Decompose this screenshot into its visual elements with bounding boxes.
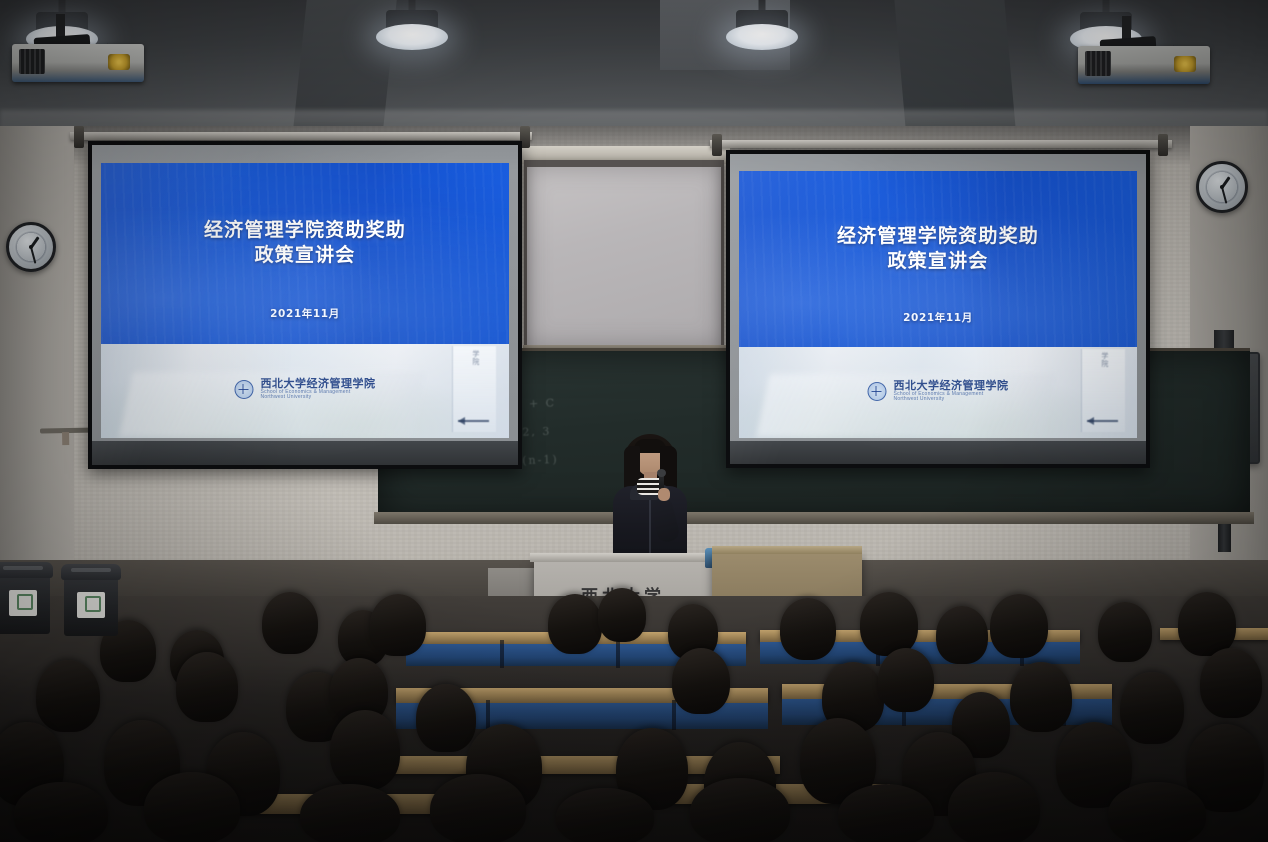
audience-head: [36, 660, 100, 732]
arrow-icon: [458, 420, 490, 422]
audience-head: [1120, 672, 1184, 744]
audience-head: [14, 782, 108, 842]
audience-head: [948, 772, 1040, 842]
projection-screen-right: 学院 西北大学经济管理学院 School of Economics & Mana…: [726, 150, 1150, 468]
screen-rail-right: [710, 140, 1172, 148]
signboard-text: 学院: [1099, 352, 1108, 368]
seat-divider: [500, 640, 504, 668]
screen-bracket: [74, 126, 84, 148]
arrow-icon: [1087, 420, 1118, 422]
audience-head: [598, 588, 646, 642]
audience-head: [548, 594, 602, 654]
audience-head: [1108, 782, 1206, 842]
slide-date: 2021年11月: [739, 310, 1137, 325]
logo-en2: Northwest University: [260, 395, 375, 401]
slide-title-line2: 政策宣讲会: [739, 249, 1137, 274]
audience-area: [0, 596, 1268, 842]
slide-lower-band: 学院 西北大学经济管理学院 School of Economics & Mana…: [739, 347, 1137, 438]
audience-head: [990, 594, 1048, 658]
wall-left-panel: [0, 126, 74, 596]
recycle-icon: [77, 592, 105, 618]
slide-signboard: 学院: [452, 346, 497, 432]
screen-bracket: [1158, 134, 1168, 156]
slide-title-line1: 经济管理学院资助奖助: [204, 219, 406, 241]
slide-title: 经济管理学院资助奖助 政策宣讲会: [739, 224, 1137, 274]
slide-title: 经济管理学院资助奖助 政策宣讲会: [101, 218, 508, 268]
screen-rail-left: [70, 132, 532, 140]
slide-date: 2021年11月: [101, 306, 508, 321]
ceiling-beam: [894, 0, 1015, 128]
audience-head: [690, 778, 790, 842]
audience-head: [1098, 602, 1152, 662]
recycle-icon: [9, 590, 37, 616]
slide-left: 学院 西北大学经济管理学院 School of Economics & Mana…: [101, 163, 508, 438]
audience-head: [1200, 648, 1262, 718]
audience-head: [860, 592, 918, 656]
blackboard-ledge: [374, 512, 1254, 524]
audience-head: [780, 598, 836, 660]
slide-lower-band: 学院 西北大学经济管理学院 School of Economics & Mana…: [101, 344, 508, 438]
projection-screen-left: 学院 西北大学经济管理学院 School of Economics & Mana…: [88, 141, 522, 469]
audience-head: [176, 652, 238, 722]
wall-clock-right: [1196, 161, 1248, 213]
slide-title-line2: 政策宣讲会: [101, 243, 508, 268]
seat-divider: [486, 700, 490, 730]
lecture-hall-scene: lim f(x) = 0 ∫ f(x) dx = F(x) + C x → ∞ …: [0, 0, 1268, 842]
trash-bin: [64, 570, 118, 636]
slide-title-line1: 经济管理学院资助奖助: [837, 225, 1039, 247]
audience-head: [672, 648, 730, 714]
audience-head: [838, 784, 934, 842]
audience-head: [878, 648, 934, 712]
audience-head: [1010, 662, 1072, 732]
audience-head: [262, 592, 318, 654]
audience-head: [144, 772, 240, 842]
signboard-text: 学院: [470, 350, 479, 366]
school-logo: 西北大学经济管理学院 School of Economics & Managem…: [867, 380, 1008, 403]
logo-en2: Northwest University: [893, 397, 1008, 403]
slide-right: 学院 西北大学经济管理学院 School of Economics & Mana…: [739, 171, 1137, 438]
university-seal-icon: [867, 382, 886, 401]
audience-head: [1178, 592, 1236, 656]
audience-head: [556, 788, 654, 842]
speaker-presenter: [606, 432, 694, 564]
school-logo: 西北大学经济管理学院 School of Economics & Managem…: [234, 378, 375, 401]
ceiling-beam: [293, 0, 396, 128]
slide-signboard: 学院: [1081, 349, 1125, 432]
trash-bin: [0, 568, 50, 634]
screen-bracket: [712, 134, 722, 156]
audience-head: [430, 774, 526, 842]
audience-head: [416, 684, 476, 752]
screen-bottom-bar: [92, 441, 518, 465]
audience-head: [300, 784, 400, 842]
seat-divider: [616, 640, 620, 668]
wall-clock-left: [6, 222, 56, 272]
screen-bottom-bar: [730, 441, 1146, 464]
seat-divider: [672, 700, 676, 730]
audience-head: [936, 606, 988, 664]
audience-head: [370, 594, 426, 656]
university-seal-icon: [234, 380, 253, 399]
center-whiteboard: [524, 160, 724, 348]
audience-head: [330, 710, 400, 790]
